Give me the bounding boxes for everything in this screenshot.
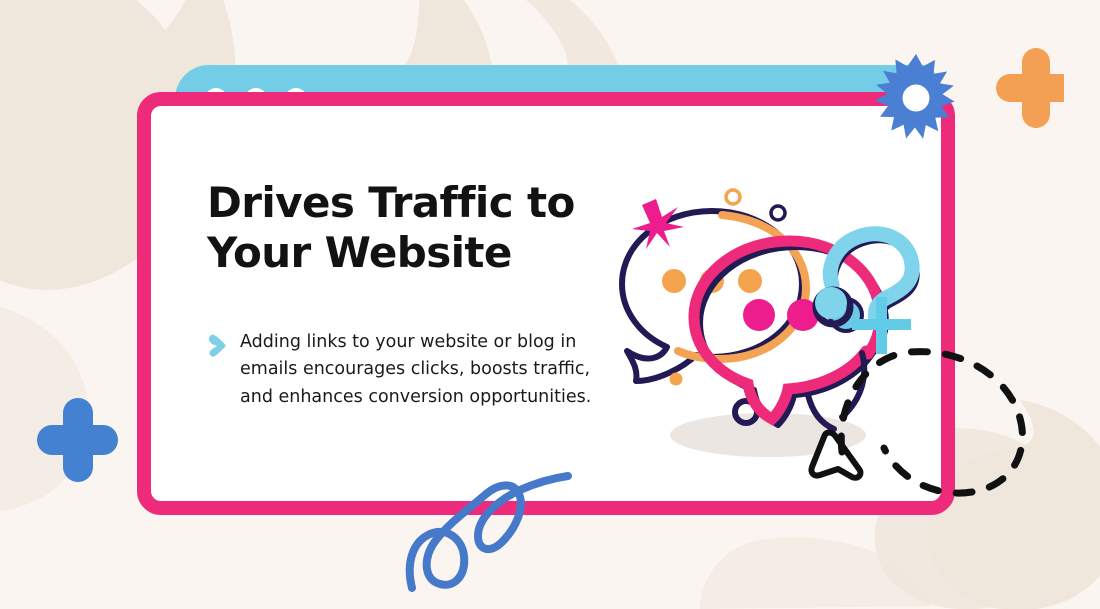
leaf-shape-bottom-center xyxy=(700,537,930,609)
body-text: Adding links to your website or blog in … xyxy=(240,329,592,411)
plus-shape-icon xyxy=(28,392,118,488)
body-row: Adding links to your website or blog in … xyxy=(207,329,607,411)
chevron-right-icon xyxy=(207,334,227,358)
text-block: Drives Traffic toYour Website Adding lin… xyxy=(207,178,607,411)
plus-shape-icon xyxy=(990,44,1064,134)
page-title-line-1: Drives Traffic to xyxy=(207,178,575,227)
leaf-shape-bottom-left xyxy=(0,300,89,513)
page-title-line-2: Your Website xyxy=(207,228,512,277)
slide-canvas: Drives Traffic toYour Website Adding lin… xyxy=(0,0,1100,609)
page-title: Drives Traffic toYour Website xyxy=(207,178,607,277)
content-card: Drives Traffic toYour Website Adding lin… xyxy=(137,92,955,515)
